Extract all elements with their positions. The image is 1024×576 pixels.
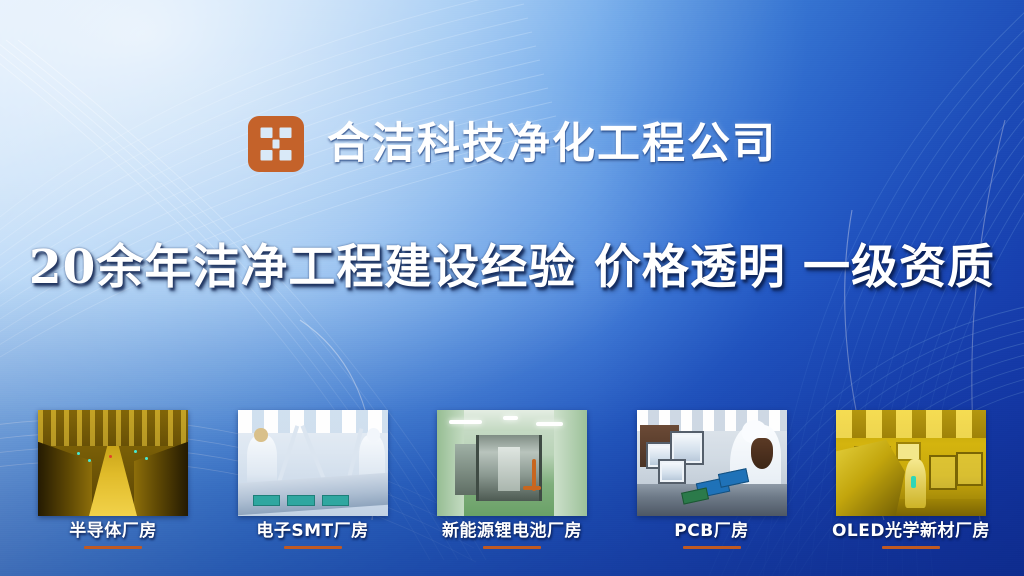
promo-banner: 合洁科技净化工程公司 20余年洁净工程建设经验 价格透明 一级资质 (0, 0, 1024, 576)
hejie-h-logo-icon (247, 115, 305, 173)
caption-underline (84, 546, 142, 549)
electronics-smt-line-photo[interactable] (238, 410, 388, 516)
industry-thumbnail-strip: 半导体厂房 电 (32, 410, 992, 560)
thumbnail-caption: OLED光学新材厂房 (832, 523, 990, 540)
headline-text: 20余年洁净工程建设经验 价格透明 一级资质 (0, 243, 1024, 294)
thumbnail-item-pcb[interactable]: PCB厂房 (631, 410, 793, 549)
brand-row: 合洁科技净化工程公司 (0, 113, 1024, 175)
lithium-battery-plant-photo[interactable] (437, 410, 587, 516)
caption-underline (284, 546, 342, 549)
pcb-inspection-station-photo[interactable] (637, 410, 787, 516)
thumbnail-caption: 电子SMT厂房 (256, 523, 368, 540)
thumbnail-caption: 新能源锂电池厂房 (442, 523, 582, 540)
company-name: 合洁科技净化工程公司 (327, 123, 777, 166)
thumbnail-item-battery[interactable]: 新能源锂电池厂房 (431, 410, 593, 549)
thumbnail-caption: 半导体厂房 (69, 523, 157, 540)
caption-underline (683, 546, 741, 549)
oled-optical-cleanroom-photo[interactable] (836, 410, 986, 516)
thumbnail-item-smt[interactable]: 电子SMT厂房 (232, 410, 394, 549)
caption-underline (882, 546, 940, 549)
thumbnail-item-semiconductor[interactable]: 半导体厂房 (32, 410, 194, 549)
caption-underline (483, 546, 541, 549)
thumbnail-caption: PCB厂房 (674, 523, 748, 540)
thumbnail-item-oled[interactable]: OLED光学新材厂房 (830, 410, 992, 549)
semiconductor-fab-photo[interactable] (38, 410, 188, 516)
